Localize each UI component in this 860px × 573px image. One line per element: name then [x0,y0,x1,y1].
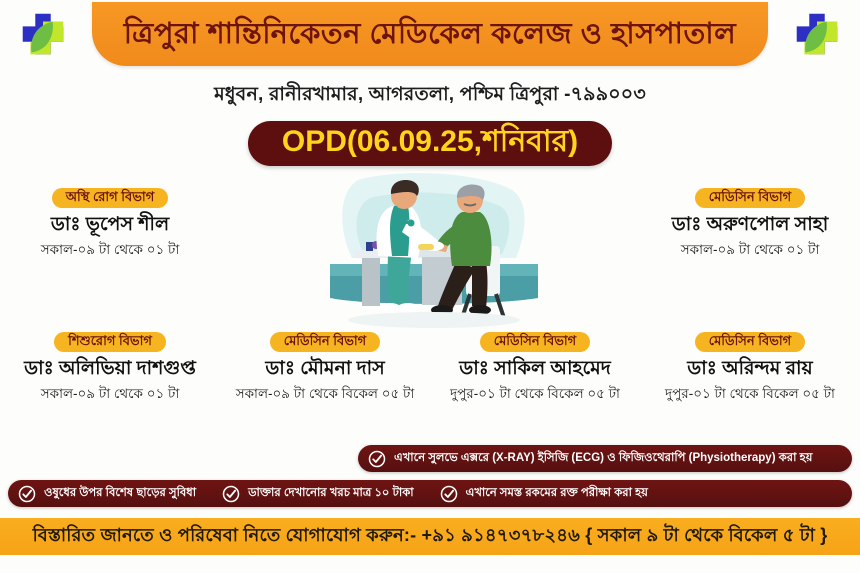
check-circle-icon [440,485,458,503]
service-bar-offers: ওষুধের উপর বিশেষ ছাড়ের সুবিধা ডাক্তার দ… [8,480,852,507]
doctor-name: ডাঃ অরুণপোল সাহা [640,215,860,236]
doctor-timing: সকাল-০৯ টা থেকে বিকেল ০৫ টা [215,387,435,402]
doctor-examining-patient-illustration [330,172,538,332]
opd-date-badge: OPD(06.09.25,শনিবার) [248,121,612,166]
doctor-timing: দুপুর-০১ টা থেকে বিকেল ০৫ টা [425,387,645,402]
doctor-card: মেডিসিন বিভাগ ডাঃ অরিন্দম রায় দুপুর-০১ … [640,332,860,402]
service-item: এখানে সুলভে এক্সরে (X-RAY) ইসিজি (ECG) ও… [368,450,812,468]
doctor-card: মেডিসিন বিভাগ ডাঃ অরুণপোল সাহা সকাল-০৯ ট… [640,188,860,258]
doctor-card: শিশুরোগ বিভাগ ডাঃ অলিভিয়া দাশগুপ্ত সকাল… [0,332,220,402]
service-text: এখানে সুলভে এক্সরে (X-RAY) ইসিজি (ECG) ও… [394,452,812,465]
doctor-card: অস্থি রোগ বিভাগ ডাঃ ভূপেস শীল সকাল-০৯ টা… [0,188,220,258]
check-circle-icon [222,485,240,503]
doctor-name: ডাঃ অরিন্দম রায় [640,359,860,380]
department-badge: মেডিসিন বিভাগ [695,188,805,208]
contact-footer-bar: বিস্তারিত জানতে ও পরিষেবা নিতে যোগাযোগ ক… [0,518,860,555]
service-item: ওষুধের উপর বিশেষ ছাড়ের সুবিধা [18,485,196,503]
doctor-timing: সকাল-০৯ টা থেকে ০১ টা [0,387,220,402]
service-bar-diagnostics: এখানে সুলভে এক্সরে (X-RAY) ইসিজি (ECG) ও… [358,445,852,472]
doctor-name: ডাঃ মৌমনা দাস [215,359,435,380]
service-text: এখানে সমস্ত রকমের রক্ত পরীক্ষা করা হয় [466,487,648,500]
doctor-name: ডাঃ সাকিল আহমেদ [425,359,645,380]
opd-poster: ত্রিপুরা শান্তিনিকেতন মেডিকেল কলেজ ও হাস… [0,0,860,573]
hospital-address: মধুবন, রানীরখামার, আগরতলা, পশ্চিম ত্রিপু… [0,80,860,112]
header-banner: ত্রিপুরা শান্তিনিকেতন মেডিকেল কলেজ ও হাস… [92,2,768,66]
doctor-name: ডাঃ অলিভিয়া দাশগুপ্ত [0,359,220,380]
check-circle-icon [368,450,386,468]
page-title: ত্রিপুরা শান্তিনিকেতন মেডিকেল কলেজ ও হাস… [124,20,736,49]
service-text: ওষুধের উপর বিশেষ ছাড়ের সুবিধা [44,487,196,500]
contact-text: বিস্তারিত জানতে ও পরিষেবা নিতে যোগাযোগ ক… [33,521,828,552]
department-badge: মেডিসিন বিভাগ [695,332,805,352]
service-item: এখানে সমস্ত রকমের রক্ত পরীক্ষা করা হয় [440,485,648,503]
service-text: ডাক্তার দেখানোর খরচ মাত্র ১০ টাকা [248,487,414,500]
service-item: ডাক্তার দেখানোর খরচ মাত্র ১০ টাকা [222,485,414,503]
poster-header: ত্রিপুরা শান্তিনিকেতন মেডিকেল কলেজ ও হাস… [0,0,860,72]
department-badge: অস্থি রোগ বিভাগ [52,188,168,208]
department-badge: শিশুরোগ বিভাগ [54,332,166,352]
doctor-timing: সকাল-০৯ টা থেকে ০১ টা [0,243,220,258]
check-circle-icon [18,485,36,503]
doctor-timing: সকাল-০৯ টা থেকে ০১ টা [640,243,860,258]
doctor-name: ডাঃ ভূপেস শীল [0,215,220,236]
opd-banner-wrap: OPD(06.09.25,শনিবার) [0,121,860,166]
medical-cross-leaf-logo [14,8,72,64]
department-badge: মেডিসিন বিভাগ [480,332,590,352]
doctor-timing: দুপুর-০১ টা থেকে বিকেল ০৫ টা [640,387,860,402]
medical-cross-leaf-logo [788,8,846,64]
doctor-card: মেডিসিন বিভাগ ডাঃ মৌমনা দাস সকাল-০৯ টা থ… [215,332,435,402]
doctor-card: মেডিসিন বিভাগ ডাঃ সাকিল আহমেদ দুপুর-০১ ট… [425,332,645,402]
department-badge: মেডিসিন বিভাগ [270,332,380,352]
